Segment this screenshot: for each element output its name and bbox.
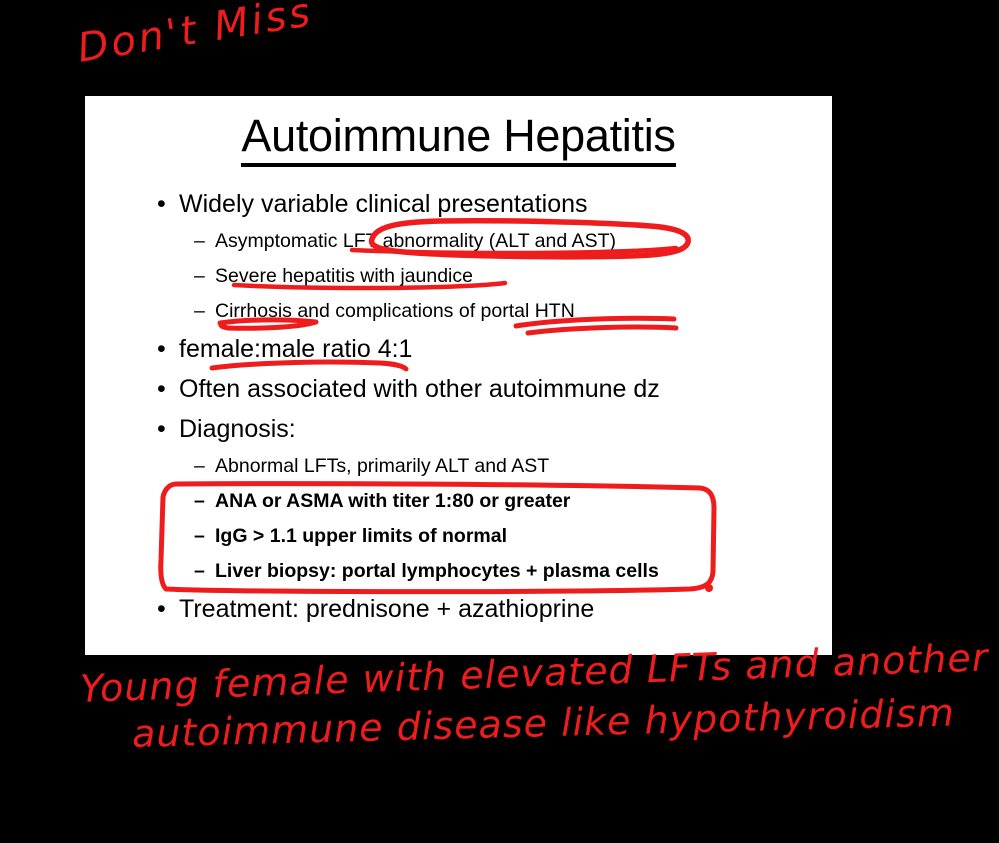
- bullet-abnormal-lfts: – Abnormal LFTs, primarily ALT and AST: [157, 449, 817, 484]
- bullet-igg-upper-limits: – IgG > 1.1 upper limits of normal: [157, 519, 817, 554]
- bullet-text: Diagnosis:: [179, 415, 296, 443]
- bullet-text: Cirrhosis and complications of portal HT…: [215, 300, 575, 322]
- bullet-asymptomatic-lft: – Asymptomatic LFT abnormality (ALT and …: [157, 224, 817, 259]
- bullet-liver-biopsy: – Liver biopsy: portal lymphocytes + pla…: [157, 554, 817, 589]
- bullet-text: Severe hepatitis with jaundice: [215, 265, 473, 287]
- bullet-text: Treatment: prednisone + azathioprine: [179, 595, 594, 623]
- bullet-marker: –: [194, 294, 205, 329]
- slide-title-text: Autoimmune Hepatitis: [241, 110, 675, 167]
- bullet-text: Abnormal LFTs, primarily ALT and AST: [215, 455, 549, 477]
- handwritten-note-top: Don't Miss: [74, 0, 316, 72]
- bullet-marker: –: [194, 519, 205, 554]
- bullet-marker: •: [157, 329, 166, 369]
- bullet-text: female:male ratio 4:1: [179, 335, 412, 363]
- bullet-widely-variable: • Widely variable clinical presentations: [157, 184, 817, 224]
- bullet-marker: –: [194, 554, 205, 589]
- bullet-text: Often associated with other autoimmune d…: [179, 375, 660, 403]
- bullet-marker: –: [194, 484, 205, 519]
- slide-surface: Autoimmune Hepatitis • Widely variable c…: [85, 96, 832, 655]
- bullet-cirrhosis: – Cirrhosis and complications of portal …: [157, 294, 817, 329]
- bullet-marker: –: [194, 259, 205, 294]
- bullet-marker: •: [157, 369, 166, 409]
- bullet-text: Widely variable clinical presentations: [179, 190, 588, 218]
- bullet-severe-hepatitis: – Severe hepatitis with jaundice: [157, 259, 817, 294]
- bullet-text: ANA or ASMA with titer 1:80 or greater: [215, 490, 570, 512]
- bullet-often-associated: • Often associated with other autoimmune…: [157, 369, 817, 409]
- bullet-marker: •: [157, 184, 166, 224]
- bullet-treatment: • Treatment: prednisone + azathioprine: [157, 589, 817, 629]
- bullet-marker: –: [194, 224, 205, 259]
- slide-title: Autoimmune Hepatitis: [85, 110, 832, 162]
- bullet-text: Asymptomatic LFT abnormality (ALT and AS…: [215, 230, 616, 252]
- bullet-ana-asma-titer: – ANA or ASMA with titer 1:80 or greater: [157, 484, 817, 519]
- bullet-marker: •: [157, 409, 166, 449]
- bullet-marker: –: [194, 449, 205, 484]
- bullet-text: Liver biopsy: portal lymphocytes + plasm…: [215, 560, 659, 582]
- bullet-text: IgG > 1.1 upper limits of normal: [215, 525, 507, 547]
- slide-body: • Widely variable clinical presentations…: [157, 184, 817, 629]
- bullet-diagnosis: • Diagnosis:: [157, 409, 817, 449]
- bullet-marker: •: [157, 589, 166, 629]
- bullet-female-male-ratio: • female:male ratio 4:1: [157, 329, 817, 369]
- screenshot-canvas: Autoimmune Hepatitis • Widely variable c…: [0, 0, 999, 843]
